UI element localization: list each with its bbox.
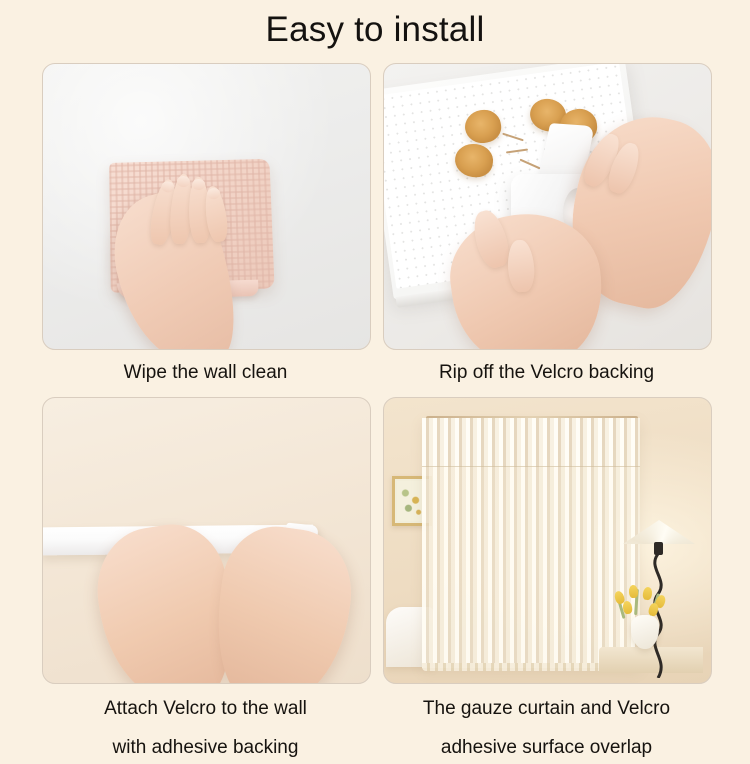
step-card-3: Attach Velcro to the wall with adhesive … xyxy=(42,397,369,764)
step-caption-4-line-1: The gauze curtain and Velcro xyxy=(383,684,710,725)
step-caption-1: Wipe the wall clean xyxy=(42,350,369,389)
product-instruction-infographic: Easy to install Wipe the wall clean xyxy=(0,0,750,750)
step-card-1: Wipe the wall clean xyxy=(42,63,369,389)
step-caption-4-line-2: adhesive surface overlap xyxy=(383,725,710,764)
step-image-wipe-wall xyxy=(42,63,371,350)
steps-grid: Wipe the wall clean xyxy=(42,63,710,764)
steps-row-bottom: Attach Velcro to the wall with adhesive … xyxy=(42,397,710,764)
step-card-4: The gauze curtain and Velcro adhesive su… xyxy=(383,397,710,764)
step-image-peel-velcro xyxy=(383,63,712,350)
curtain-valance xyxy=(422,418,640,467)
step-caption-3-line-1: Attach Velcro to the wall xyxy=(42,684,369,725)
step-card-2: Rip off the Velcro backing xyxy=(383,63,710,389)
page-title: Easy to install xyxy=(0,9,750,51)
step-image-curtain-room xyxy=(383,397,712,684)
step-caption-3-line-2: with adhesive backing xyxy=(42,725,369,764)
step-image-attach-velcro xyxy=(42,397,371,684)
steps-row-top: Wipe the wall clean xyxy=(42,63,710,389)
step-caption-2: Rip off the Velcro backing xyxy=(383,350,710,389)
